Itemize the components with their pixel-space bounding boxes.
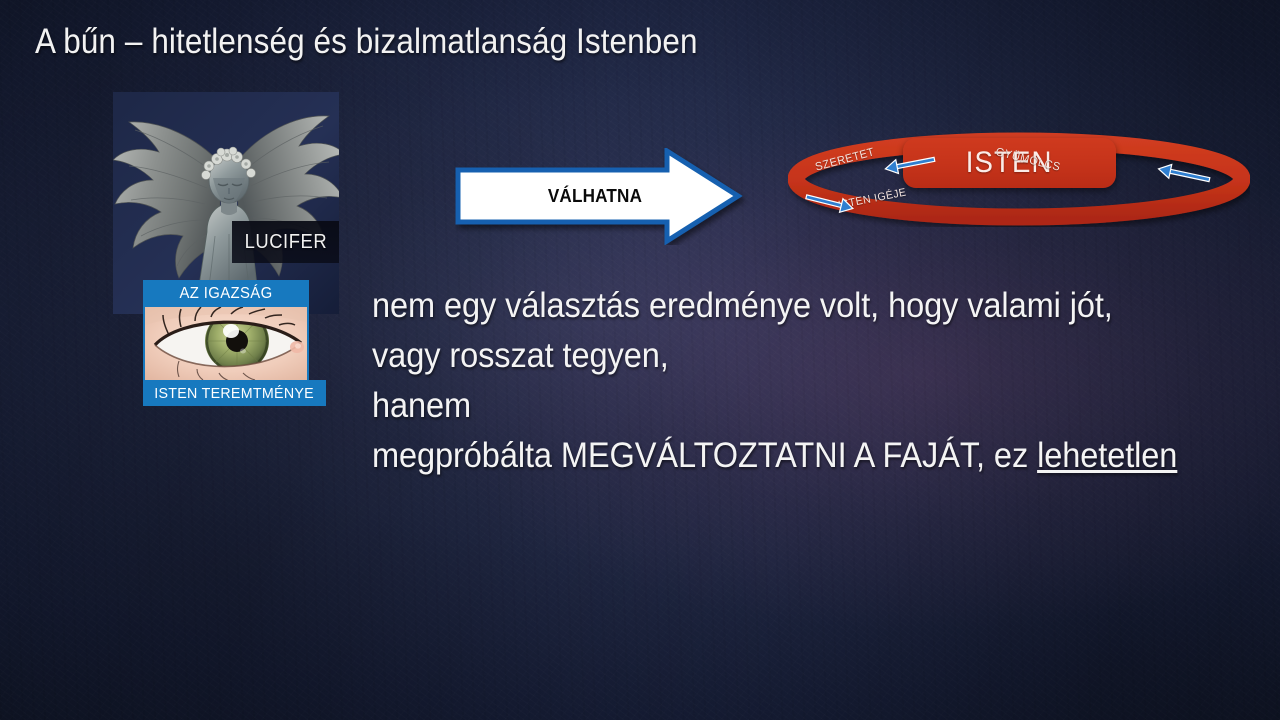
slide-title: A bűn – hitetlenség és bizalmatlanság Is… xyxy=(35,22,698,62)
creature-label: ISTEN TEREMTMÉNYE xyxy=(155,385,315,402)
body-line-4-emphasis: lehetetlen xyxy=(1037,436,1177,475)
isten-cycle-diagram: ISTEN SZERETE xyxy=(788,132,1250,227)
body-line-4-prefix: megpróbálta MEGVÁLTOZTATNI A FAJÁT, ez xyxy=(372,436,1037,475)
slide-canvas: A bűn – hitetlenség és bizalmatlanság Is… xyxy=(0,0,1280,720)
lucifer-label: LUCIFER xyxy=(244,231,327,254)
lucifer-caption-band: LUCIFER xyxy=(232,221,339,263)
diagram-arrows xyxy=(788,132,1250,227)
truth-caption-band: AZ IGAZSÁG xyxy=(143,280,309,307)
body-line-3: hanem xyxy=(372,381,1209,431)
eye-image xyxy=(143,307,309,381)
body-line-4: megpróbálta MEGVÁLTOZTATNI A FAJÁT, ez l… xyxy=(372,431,1209,481)
valhatna-arrow: VÁLHATNA xyxy=(455,148,755,245)
truth-label: AZ IGAZSÁG xyxy=(179,285,272,303)
image-collage: LUCIFER AZ IGAZSÁG xyxy=(113,92,339,314)
body-line-2: vagy rosszat tegyen, xyxy=(372,331,1209,381)
body-line-1: nem egy választás eredménye volt, hogy v… xyxy=(372,281,1209,331)
body-text-block: nem egy választás eredménye volt, hogy v… xyxy=(372,281,1272,481)
creature-caption-band: ISTEN TEREMTMÉNYE xyxy=(143,380,326,406)
